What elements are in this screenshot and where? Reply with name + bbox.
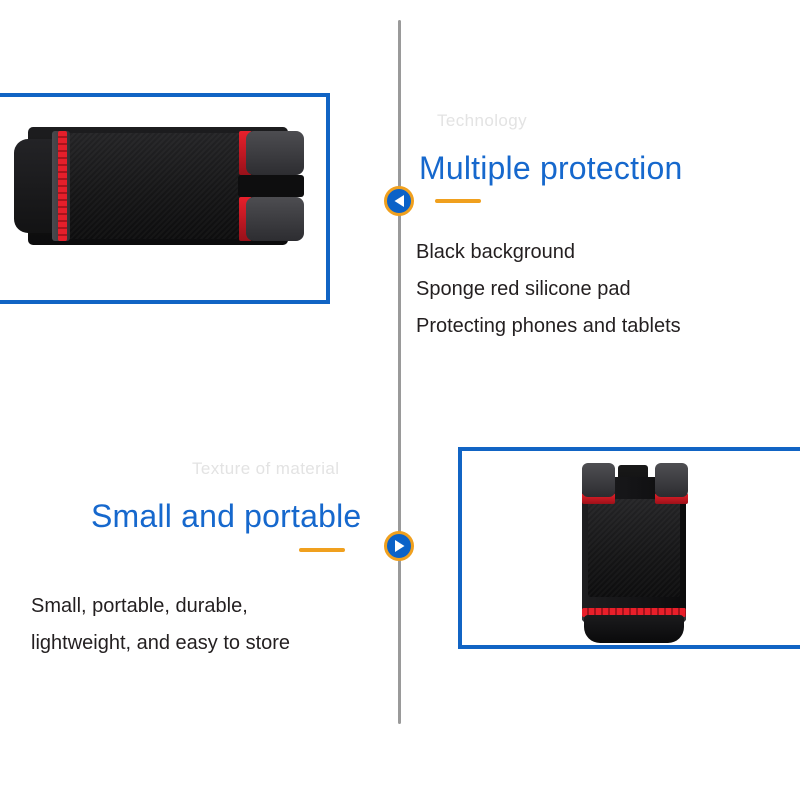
accent-underline-top xyxy=(435,199,481,203)
product-photo-frame-vertical xyxy=(458,447,800,649)
holder-right-arm-top xyxy=(246,131,304,175)
accent-underline-bottom xyxy=(299,548,345,552)
holder-sponge-pad xyxy=(62,133,242,239)
bullet-item: lightweight, and easy to store xyxy=(31,625,290,662)
timeline-node-arrow-right[interactable] xyxy=(384,531,414,561)
product-photo-horizontal xyxy=(0,97,326,300)
bullet-list-bottom: Small, portable, durable, lightweight, a… xyxy=(31,588,290,662)
headline-multiple-protection: Multiple protection xyxy=(419,150,683,187)
vertical-divider xyxy=(398,20,401,724)
arrow-right-icon xyxy=(393,539,406,553)
holder-sponge-pad xyxy=(588,499,680,597)
watermark-texture-of-material: Texture of material xyxy=(192,459,339,479)
holder-top-arm-right xyxy=(655,463,688,497)
product-photo-vertical xyxy=(462,451,800,645)
arrow-left-icon xyxy=(393,194,406,208)
infographic-page: Technology Multiple protection Black bac… xyxy=(0,0,800,800)
watermark-technology: Technology xyxy=(437,111,527,131)
holder-left-cap xyxy=(14,139,56,233)
product-photo-frame-horizontal xyxy=(0,93,330,304)
holder-rear-block xyxy=(238,175,304,197)
bullet-item: Small, portable, durable, xyxy=(31,588,290,625)
headline-small-and-portable: Small and portable xyxy=(91,498,361,535)
bullet-item: Protecting phones and tablets xyxy=(416,308,681,345)
bullet-item: Sponge red silicone pad xyxy=(416,271,681,308)
timeline-node-arrow-left[interactable] xyxy=(384,186,414,216)
tablet-holder-horizontal-illustration xyxy=(14,125,304,247)
tablet-holder-vertical-illustration xyxy=(580,463,690,643)
holder-left-red-silicone xyxy=(58,131,67,241)
holder-right-arm-bottom xyxy=(246,197,304,241)
bullet-list-top: Black background Sponge red silicone pad… xyxy=(416,234,681,345)
bullet-item: Black background xyxy=(416,234,681,271)
holder-top-arm-left xyxy=(582,463,615,497)
holder-foot xyxy=(584,615,684,643)
